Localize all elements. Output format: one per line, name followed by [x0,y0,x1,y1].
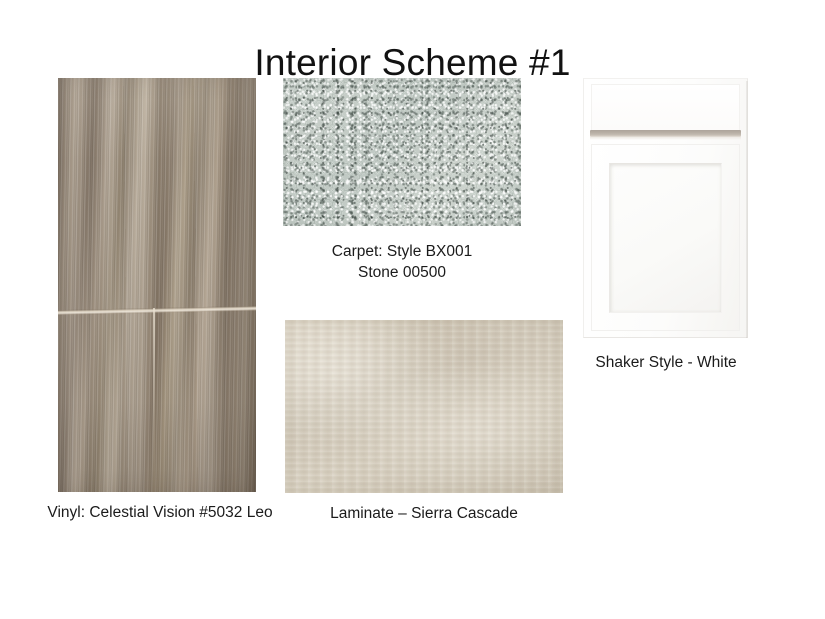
vinyl-plank-swatch[interactable] [58,78,256,492]
carpet-swatch[interactable] [283,78,521,226]
cabinet-caption: Shaker Style - White [568,352,764,373]
cabinet-door-swatch[interactable] [583,78,748,338]
vinyl-plank-seam [58,306,256,316]
carpet-caption: Carpet: Style BX001 Stone 00500 [283,241,521,283]
cabinet-door-frame [591,144,740,331]
laminate-caption: Laminate – Sierra Cascade [285,503,563,524]
vinyl-plank-butt-joint [153,308,155,492]
cabinet-drawer-reveal [590,130,741,137]
cabinet-drawer-reveal-highlight [590,137,741,141]
vinyl-caption: Vinyl: Celestial Vision #5032 Leo [0,502,320,523]
cabinet-recessed-panel [609,163,722,313]
interior-scheme-board: Interior Scheme #1 Vinyl: Celestial Visi… [0,0,825,619]
cabinet-drawer-front [591,84,740,130]
laminate-swatch[interactable] [285,320,563,493]
cabinet-edge-shadow [746,81,748,338]
